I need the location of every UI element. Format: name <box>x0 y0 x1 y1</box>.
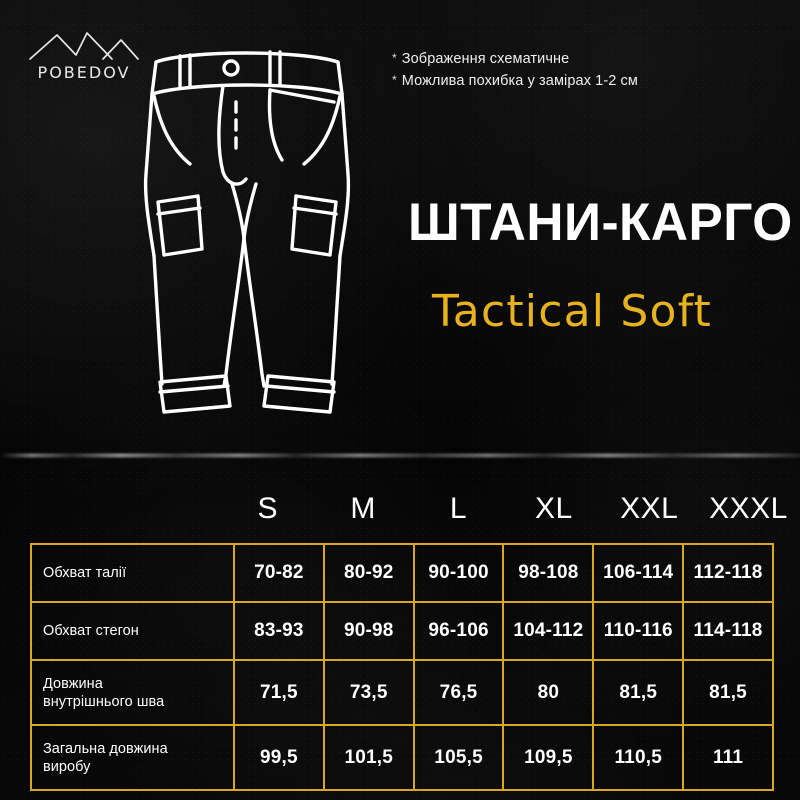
size-header-l: L <box>411 492 506 536</box>
cell-inseam-xl: 80 <box>503 660 593 725</box>
row-label-hips: Обхват стегон <box>31 602 234 660</box>
page-subtitle: Tactical Soft <box>432 286 712 337</box>
cell-total-l: 105,5 <box>414 725 504 790</box>
note-text: Можлива похибка у замірах 1-2 см <box>402 70 638 92</box>
cell-hips-m: 90-98 <box>324 602 414 660</box>
cell-total-xxl: 110,5 <box>593 725 683 790</box>
note-line: * Зображення схематичне <box>392 48 752 70</box>
row-label-total-length: Загальна довжина виробу <box>31 725 234 790</box>
row-label-line: внутрішнього шва <box>43 694 164 710</box>
bullet-icon: * <box>392 48 397 68</box>
table-row: Обхват стегон 83-93 90-98 96-106 104-112… <box>31 602 773 660</box>
cell-inseam-xxxl: 81,5 <box>683 660 773 725</box>
cell-inseam-s: 71,5 <box>234 660 324 725</box>
texture-crack-line <box>0 452 800 459</box>
size-header-s: S <box>220 492 315 536</box>
cell-total-xl: 109,5 <box>503 725 593 790</box>
row-label-line: Загальна довжина <box>43 741 168 757</box>
cell-waist-l: 90-100 <box>414 544 504 602</box>
table-row: Довжина внутрішнього шва 71,5 73,5 76,5 … <box>31 660 773 725</box>
table-row: Обхват талії 70-82 80-92 90-100 98-108 1… <box>31 544 773 602</box>
cell-waist-xl: 98-108 <box>503 544 593 602</box>
page-title: ШТАНИ-КАРГО <box>408 192 793 253</box>
cell-waist-s: 70-82 <box>234 544 324 602</box>
cell-total-m: 101,5 <box>324 725 414 790</box>
cell-waist-xxxl: 112-118 <box>683 544 773 602</box>
size-header-row: S M L XL XXL XXXL <box>0 492 800 536</box>
size-chart-table: Обхват талії 70-82 80-92 90-100 98-108 1… <box>30 543 774 791</box>
size-header-xxxl: XXXL <box>697 492 800 536</box>
size-header-xxl: XXL <box>602 492 697 536</box>
note-text: Зображення схематичне <box>402 48 570 70</box>
row-label-line: Довжина <box>43 676 103 692</box>
cell-waist-m: 80-92 <box>324 544 414 602</box>
size-header-xl: XL <box>506 492 601 536</box>
row-label-waist: Обхват талії <box>31 544 234 602</box>
cell-inseam-m: 73,5 <box>324 660 414 725</box>
note-line: * Можлива похибка у замірах 1-2 см <box>392 70 752 92</box>
cell-hips-xxl: 110-116 <box>593 602 683 660</box>
cell-inseam-l: 76,5 <box>414 660 504 725</box>
cell-total-xxxl: 111 <box>683 725 773 790</box>
cargo-pants-illustration <box>120 24 370 424</box>
row-label-inseam: Довжина внутрішнього шва <box>31 660 234 725</box>
cell-inseam-xxl: 81,5 <box>593 660 683 725</box>
cell-hips-s: 83-93 <box>234 602 324 660</box>
row-label-line: виробу <box>43 759 90 775</box>
size-header-m: M <box>315 492 410 536</box>
cell-total-s: 99,5 <box>234 725 324 790</box>
disclaimer-notes: * Зображення схематичне * Можлива похибк… <box>392 48 752 92</box>
size-header-spacer <box>0 492 220 536</box>
bullet-icon: * <box>392 70 397 90</box>
table-row: Загальна довжина виробу 99,5 101,5 105,5… <box>31 725 773 790</box>
cell-hips-xxxl: 114-118 <box>683 602 773 660</box>
size-chart-page: POBEDOV * Зображення схематичне * Можлив… <box>0 0 800 800</box>
cell-hips-l: 96-106 <box>414 602 504 660</box>
cell-hips-xl: 104-112 <box>503 602 593 660</box>
cell-waist-xxl: 106-114 <box>593 544 683 602</box>
